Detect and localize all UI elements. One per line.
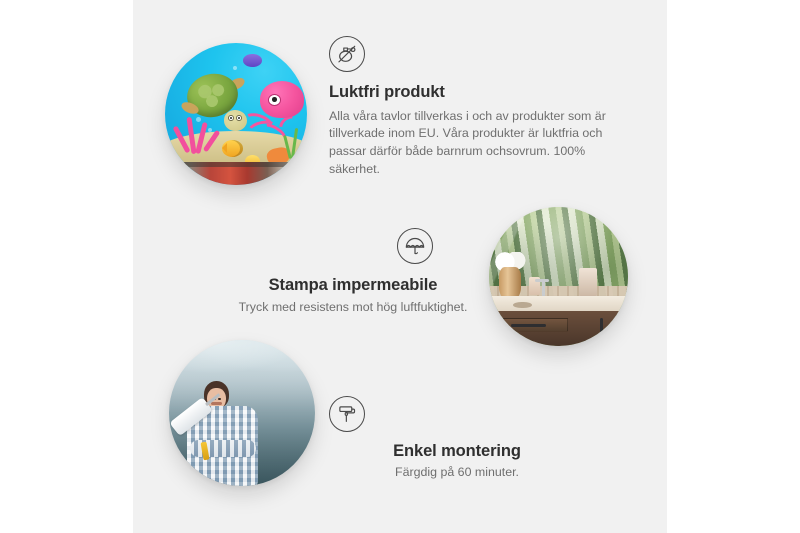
fish-illustration [222, 140, 243, 157]
feature-easy-install: Enkel montering Färgdig på 60 minuter. [329, 396, 585, 481]
room-interior-strip [165, 162, 307, 185]
vanity-cabinet [492, 311, 628, 346]
feature-description: Färgdig på 60 minuter. [329, 464, 585, 482]
no-fragrance-icon [329, 36, 365, 72]
feature-title: Enkel montering [329, 442, 585, 462]
faucet [542, 279, 545, 296]
forest-scene [169, 340, 315, 486]
fish-illustration [243, 54, 261, 67]
feature-odourless: Luktfri produkt Alla våra tavlor tillver… [329, 36, 629, 178]
feature-description: Alla våra tavlor tillverkas i och av pro… [329, 108, 621, 178]
umbrella-icon [397, 228, 433, 264]
feature-title: Stampa impermeabile [213, 276, 493, 296]
page-root: Luktfri produkt Alla våra tavlor tillver… [0, 0, 800, 533]
drawer-handle [511, 324, 546, 327]
cabinet-handle [617, 318, 620, 336]
feature-description: Tryck med resistens mot hög luftfuktighe… [213, 299, 493, 317]
woman-paint-roller-forest-photo [169, 340, 315, 486]
octopus-head [260, 81, 304, 117]
turtle-eye [228, 115, 234, 121]
underwater-scene [165, 43, 307, 185]
underwater-cartoon-mural-photo [165, 43, 307, 185]
woman-figure [184, 381, 269, 486]
paint-roller-icon [329, 396, 365, 432]
forest-canopy-light [169, 340, 315, 378]
octopus-eye [268, 94, 281, 106]
soap-dispenser [579, 268, 597, 296]
coral-illustration [176, 117, 219, 154]
bubble-icon [233, 66, 237, 70]
bathroom-scene [489, 207, 628, 346]
woman-eye [218, 398, 221, 400]
feature-waterproof: Stampa impermeabile Tryck med resistens … [213, 228, 493, 316]
bathroom-vanity-wallpaper-photo [489, 207, 628, 346]
content-canvas: Luktfri produkt Alla våra tavlor tillver… [133, 0, 667, 533]
cabinet-handle [600, 318, 603, 336]
feature-title: Luktfri produkt [329, 83, 629, 103]
